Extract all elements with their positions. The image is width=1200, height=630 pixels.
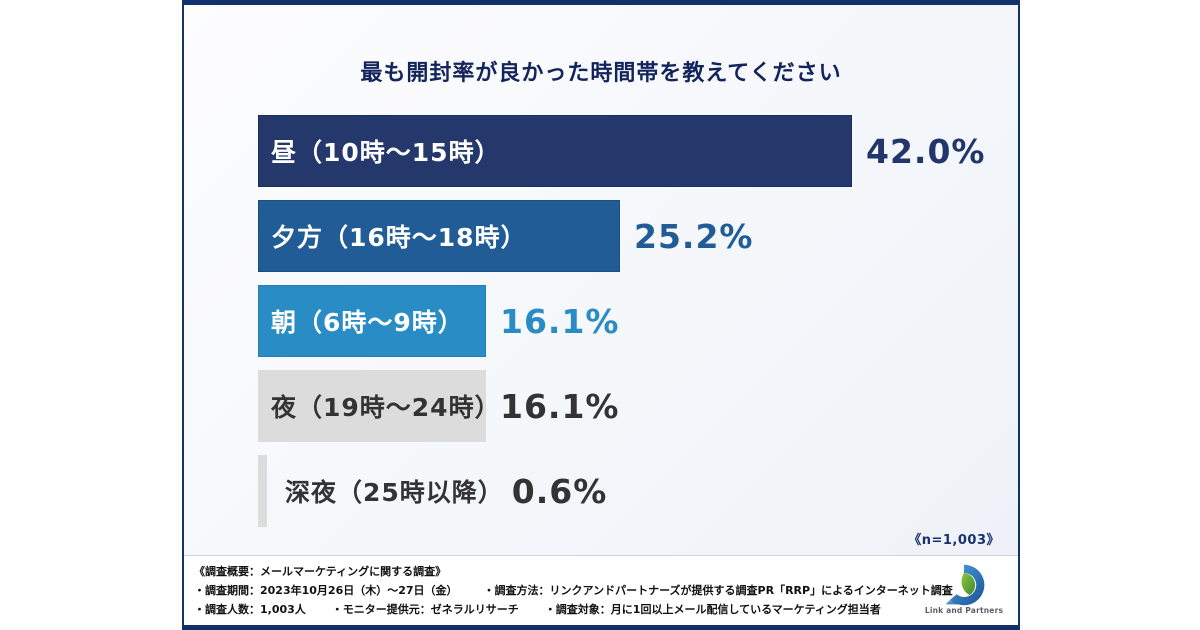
bar-chart-plot: 昼（10時〜15時） 42.0% 夕方（16時〜18時） 25.2% 朝（6時〜…: [258, 115, 1018, 556]
bar-value-label: 16.1%: [486, 370, 620, 442]
infographic-page: 最も開封率が良かった時間帯を教えてください 昼（10時〜15時） 42.0% 夕…: [0, 0, 1200, 630]
bar-segment[interactable]: 夜（19時〜24時）: [258, 370, 486, 442]
bar-row: 朝（6時〜9時） 16.1%: [258, 285, 1018, 370]
bar-value-label: 42.0%: [852, 115, 986, 187]
bar-label: 深夜（25時以降）: [281, 473, 504, 509]
bar-segment[interactable]: 朝（6時〜9時）: [258, 285, 486, 357]
footer-overview-title: 《調査概要：メールマーケティングに関する調査》: [194, 562, 446, 581]
footer-survey-overview: 《調査概要：メールマーケティングに関する調査》 ・調査期間：2023年10月26…: [184, 555, 1018, 625]
bar-segment[interactable]: [258, 455, 267, 527]
footer-survey-method: ・調査方法：リンクアンドパートナーズが提供する調査PR「RRP」によるインターネ…: [484, 581, 953, 600]
bar-label: 夜（19時〜24時）: [259, 388, 501, 424]
bar-label: 夕方（16時〜18時）: [259, 218, 527, 254]
footer-monitor-provider: ・モニター提供元：ゼネラルリサーチ: [332, 600, 519, 619]
footer-survey-period: ・調査期間：2023年10月26日（木）〜27日（金）: [194, 581, 458, 600]
footer-spacer: [306, 600, 332, 619]
bar-row: 昼（10時〜15時） 42.0%: [258, 115, 1018, 200]
company-logo: Link and Partners: [924, 562, 1004, 615]
bar-row: 夕方（16時〜18時） 25.2%: [258, 200, 1018, 285]
logo-wordmark: Link and Partners: [924, 606, 1004, 615]
footer-line-2: ・調査期間：2023年10月26日（木）〜27日（金） ・調査方法：リンクアンド…: [194, 581, 964, 600]
bar-value-text: 0.6%: [504, 472, 608, 511]
footer-line-1: 《調査概要：メールマーケティングに関する調査》: [194, 562, 964, 581]
bar-value-label: 深夜（25時以降）0.6%: [267, 455, 607, 527]
footer-spacer: [458, 581, 484, 600]
footer-spacer: [519, 600, 545, 619]
bar-value-label: 16.1%: [486, 285, 620, 357]
footer-text-block: 《調査概要：メールマーケティングに関する調査》 ・調査期間：2023年10月26…: [194, 562, 964, 619]
bottom-rule-divider: [184, 625, 1018, 630]
bar-segment[interactable]: 昼（10時〜15時）: [258, 115, 852, 187]
chart-area: 最も開封率が良かった時間帯を教えてください 昼（10時〜15時） 42.0% 夕…: [184, 5, 1018, 556]
bar-label: 昼（10時〜15時）: [259, 133, 501, 169]
bar-value-label: 25.2%: [620, 200, 754, 272]
bar-row: 深夜（25時以降）0.6%: [258, 455, 1018, 540]
link-and-partners-logo-icon: [941, 562, 987, 608]
bar-row: 夜（19時〜24時） 16.1%: [258, 370, 1018, 455]
bar-label: 朝（6時〜9時）: [259, 303, 464, 339]
footer-respondent-count: ・調査人数：1,003人: [194, 600, 306, 619]
bar-segment[interactable]: 夕方（16時〜18時）: [258, 200, 620, 272]
chart-title: 最も開封率が良かった時間帯を教えてください: [184, 55, 1018, 87]
content-frame: 最も開封率が良かった時間帯を教えてください 昼（10時〜15時） 42.0% 夕…: [182, 0, 1020, 630]
footer-line-3: ・調査人数：1,003人 ・モニター提供元：ゼネラルリサーチ ・調査対象：月に1…: [194, 600, 964, 619]
sample-size-note: 《n=1,003》: [908, 529, 1000, 548]
footer-survey-target: ・調査対象：月に1回以上メール配信しているマーケティング担当者: [545, 600, 881, 619]
